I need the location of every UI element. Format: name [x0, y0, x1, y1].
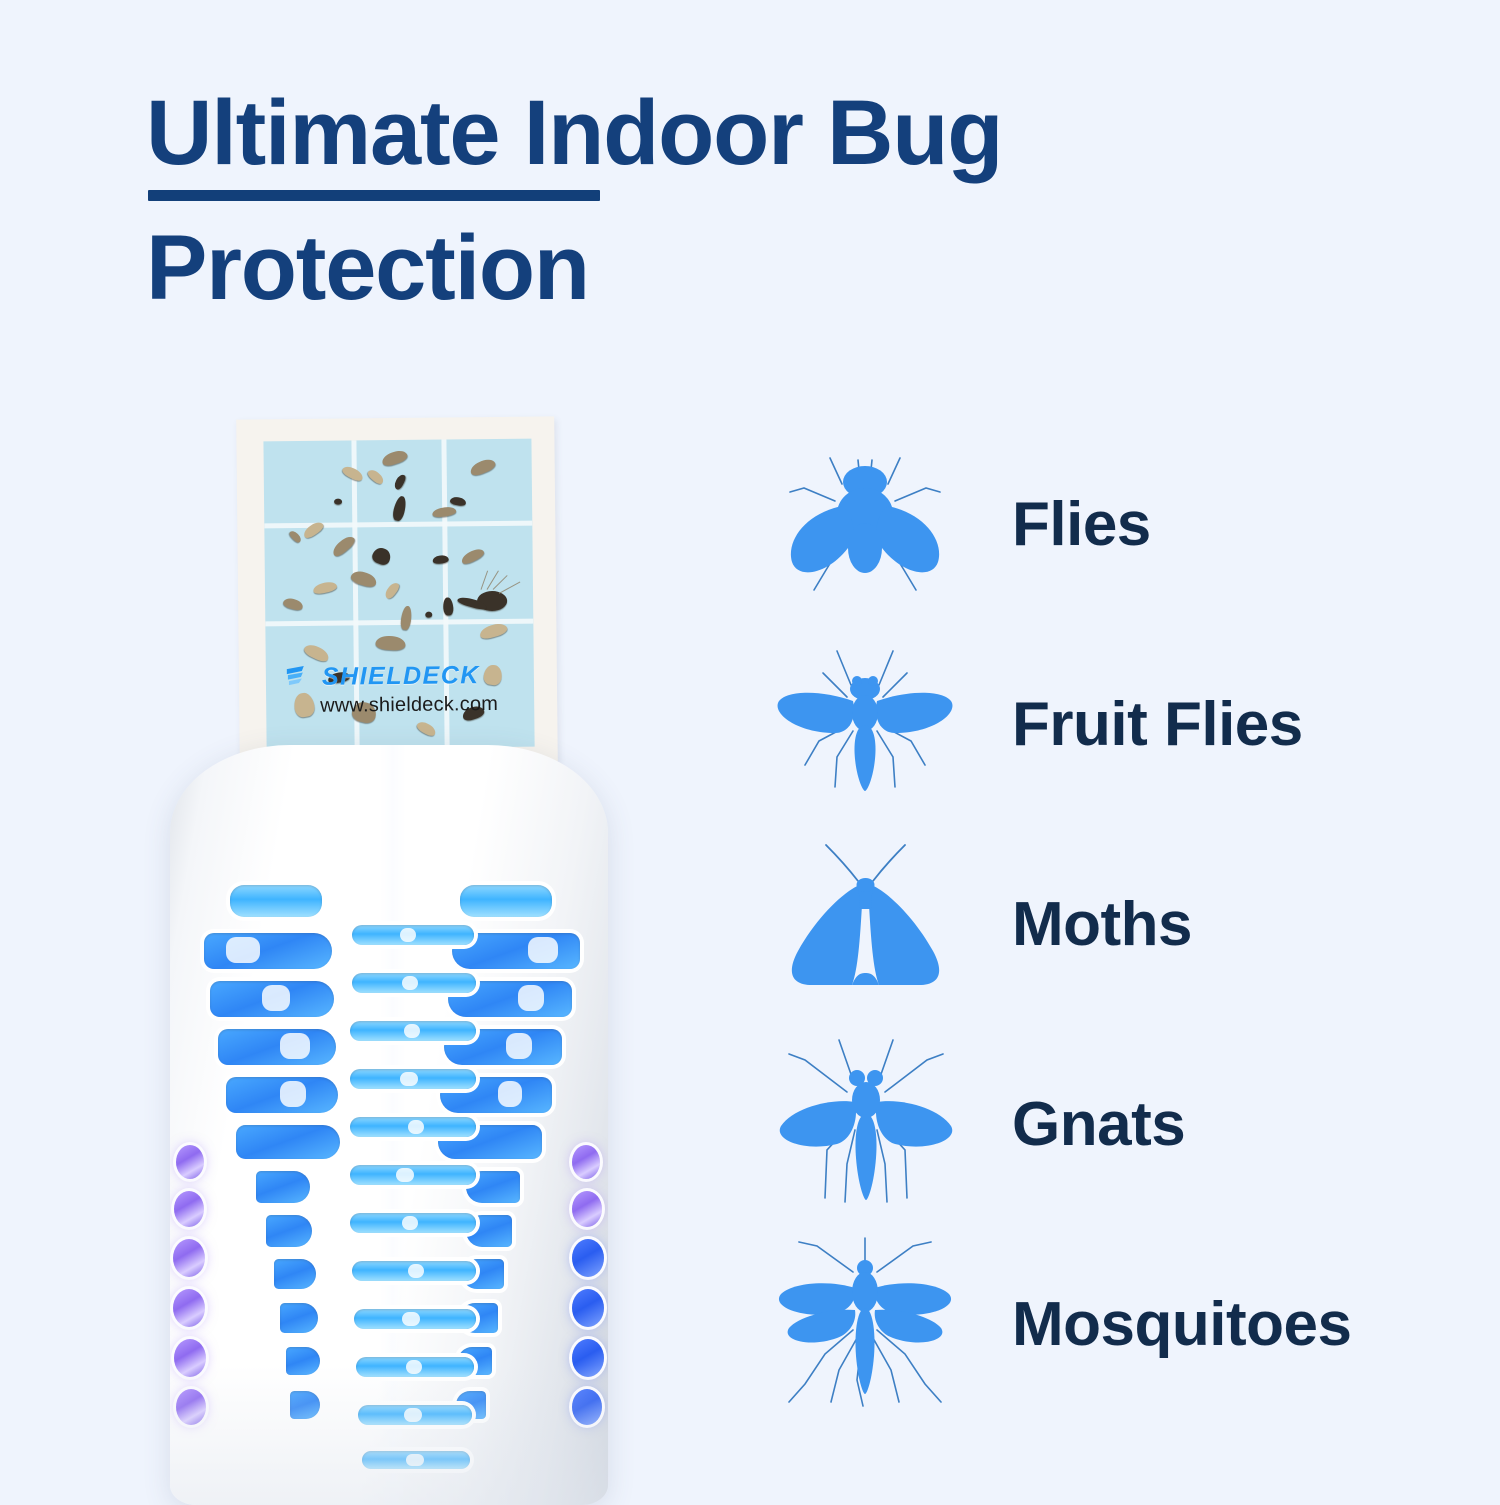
trapped-insect	[468, 457, 497, 478]
trapped-insect	[393, 473, 407, 491]
moth-icon	[770, 839, 960, 1009]
shieldeck-logo-icon	[286, 664, 316, 690]
mosquito-icon	[770, 1234, 960, 1414]
trapped-insect	[425, 612, 432, 618]
zapper-center-slot	[350, 1117, 476, 1137]
zapper-side-uv-vent	[572, 1191, 602, 1227]
zapper-vent-left	[256, 1171, 310, 1203]
zapper-center-slot	[352, 973, 476, 993]
zapper-vent-left	[204, 933, 332, 969]
trapped-insect-leg	[487, 571, 499, 590]
zapper-center-slot	[350, 1021, 476, 1041]
zapper-vent-left	[280, 1303, 318, 1333]
trapped-insect	[391, 495, 407, 522]
zapper-bottom-shading	[170, 1365, 608, 1505]
zapper-center-slot	[354, 1309, 476, 1329]
zapper-side-uv-vent	[173, 1289, 205, 1327]
bug-zapper-device	[170, 745, 608, 1505]
trapped-insect	[370, 545, 393, 566]
trapped-insect	[312, 580, 338, 595]
pest-label: Moths	[960, 889, 1192, 960]
zapper-side-uv-vent	[572, 1239, 604, 1277]
glue-board-gridline	[264, 521, 532, 529]
glue-board-brand: SHIELDECK	[286, 661, 526, 693]
fruit-fly-icon	[770, 639, 960, 809]
trapped-insect	[415, 719, 437, 738]
pest-row-mosquitoes: Mosquitoes	[770, 1224, 1450, 1424]
zapper-vent-left	[218, 1029, 336, 1065]
trapped-insect	[450, 496, 467, 507]
page-title: Ultimate Indoor Bug Protection	[146, 86, 1326, 316]
zapper-center-slot	[350, 1069, 476, 1089]
zapper-vent-left	[210, 981, 334, 1017]
trapped-insect	[288, 529, 303, 544]
zapper-vent-left	[266, 1215, 312, 1247]
zapper-side-uv-vent	[176, 1145, 204, 1179]
zapper-shell	[170, 745, 608, 1505]
zapper-side-uv-vent	[572, 1145, 600, 1179]
pest-row-fruit-flies: Fruit Flies	[770, 624, 1450, 824]
pest-row-moths: Moths	[770, 824, 1450, 1024]
pest-row-gnats: Gnats	[770, 1024, 1450, 1224]
pest-label: Gnats	[960, 1089, 1185, 1160]
zapper-side-uv-vent	[173, 1239, 205, 1277]
zapper-side-uv-vent	[572, 1289, 604, 1327]
glue-board-brand-text: SHIELDECK	[322, 661, 480, 692]
zapper-center-slot	[352, 1261, 476, 1281]
trapped-insect	[334, 499, 342, 505]
glue-board: SHIELDECK www.shieldeck.com	[263, 439, 534, 750]
pest-label: Flies	[960, 489, 1151, 560]
glue-board-backing: SHIELDECK www.shieldeck.com	[236, 416, 558, 764]
trapped-insect	[302, 642, 331, 664]
trapped-insect	[400, 605, 413, 630]
trapped-insect	[478, 621, 508, 640]
trapped-insect	[442, 597, 453, 616]
trapped-insect	[282, 597, 304, 612]
title-line-2: Protection	[146, 221, 1326, 317]
trapped-insect	[380, 448, 408, 468]
trapped-insect	[383, 581, 401, 601]
zapper-vent-right	[460, 885, 552, 917]
pest-list: Flies Fruit Flies	[770, 424, 1450, 1424]
glue-board-url: www.shieldeck.com	[320, 693, 498, 718]
fly-icon	[770, 444, 960, 604]
trapped-insect	[432, 506, 457, 518]
zapper-center-slot	[350, 1213, 476, 1233]
zapper-vent-left	[226, 1077, 338, 1113]
pest-label: Fruit Flies	[960, 689, 1303, 760]
trapped-insect	[460, 546, 486, 566]
pest-label: Mosquitoes	[960, 1289, 1351, 1360]
zapper-vent-left	[274, 1259, 316, 1289]
zapper-center-slot	[352, 925, 474, 945]
gnat-icon	[770, 1034, 960, 1214]
zapper-side-uv-vent	[174, 1191, 204, 1227]
pest-row-flies: Flies	[770, 424, 1450, 624]
product-photo: SHIELDECK www.shieldeck.com	[0, 400, 760, 1500]
trapped-insect	[293, 692, 316, 719]
trapped-insect-leg	[499, 582, 521, 594]
zapper-vent-left	[236, 1125, 340, 1159]
title-underline-rule	[148, 190, 600, 201]
title-line-1: Ultimate Indoor Bug	[146, 86, 1326, 182]
zapper-vent-left	[230, 885, 322, 917]
trapped-insect	[375, 635, 406, 651]
trapped-insect	[366, 468, 386, 486]
zapper-center-slot	[350, 1165, 476, 1185]
